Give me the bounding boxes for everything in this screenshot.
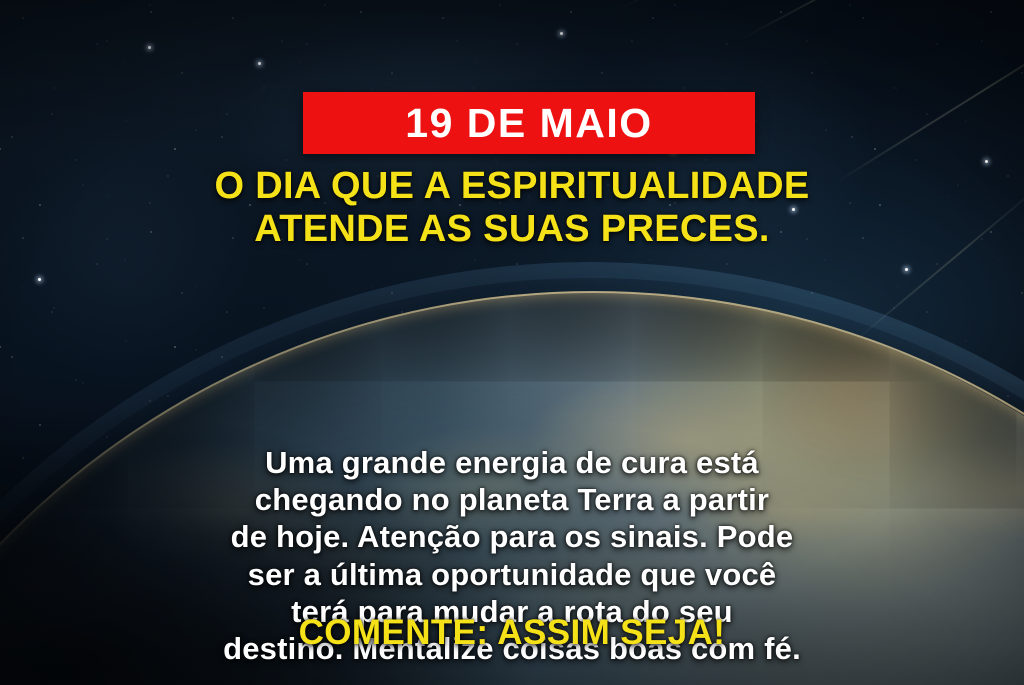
body-line-2: chegando no planeta Terra a partir	[0, 481, 1024, 518]
headline-line-2: ATENDE AS SUAS PRECES.	[0, 208, 1024, 251]
call-to-action-text: COMENTE: ASSIM SEJA!	[0, 614, 1024, 653]
headline-line-1: O DIA QUE A ESPIRITUALIDADE	[0, 165, 1024, 208]
date-banner-label: 19 DE MAIO	[405, 103, 652, 144]
poster-canvas: 19 DE MAIO O DIA QUE A ESPIRITUALIDADE A…	[0, 0, 1024, 685]
body-line-3: de hoje. Atenção para os sinais. Pode	[0, 518, 1024, 555]
date-banner: 19 DE MAIO	[303, 92, 755, 154]
headline: O DIA QUE A ESPIRITUALIDADE ATENDE AS SU…	[0, 165, 1024, 250]
body-line-1: Uma grande energia de cura está	[0, 444, 1024, 481]
poster-content: 19 DE MAIO O DIA QUE A ESPIRITUALIDADE A…	[0, 0, 1024, 685]
body-line-4: ser a última oportunidade que você	[0, 556, 1024, 593]
